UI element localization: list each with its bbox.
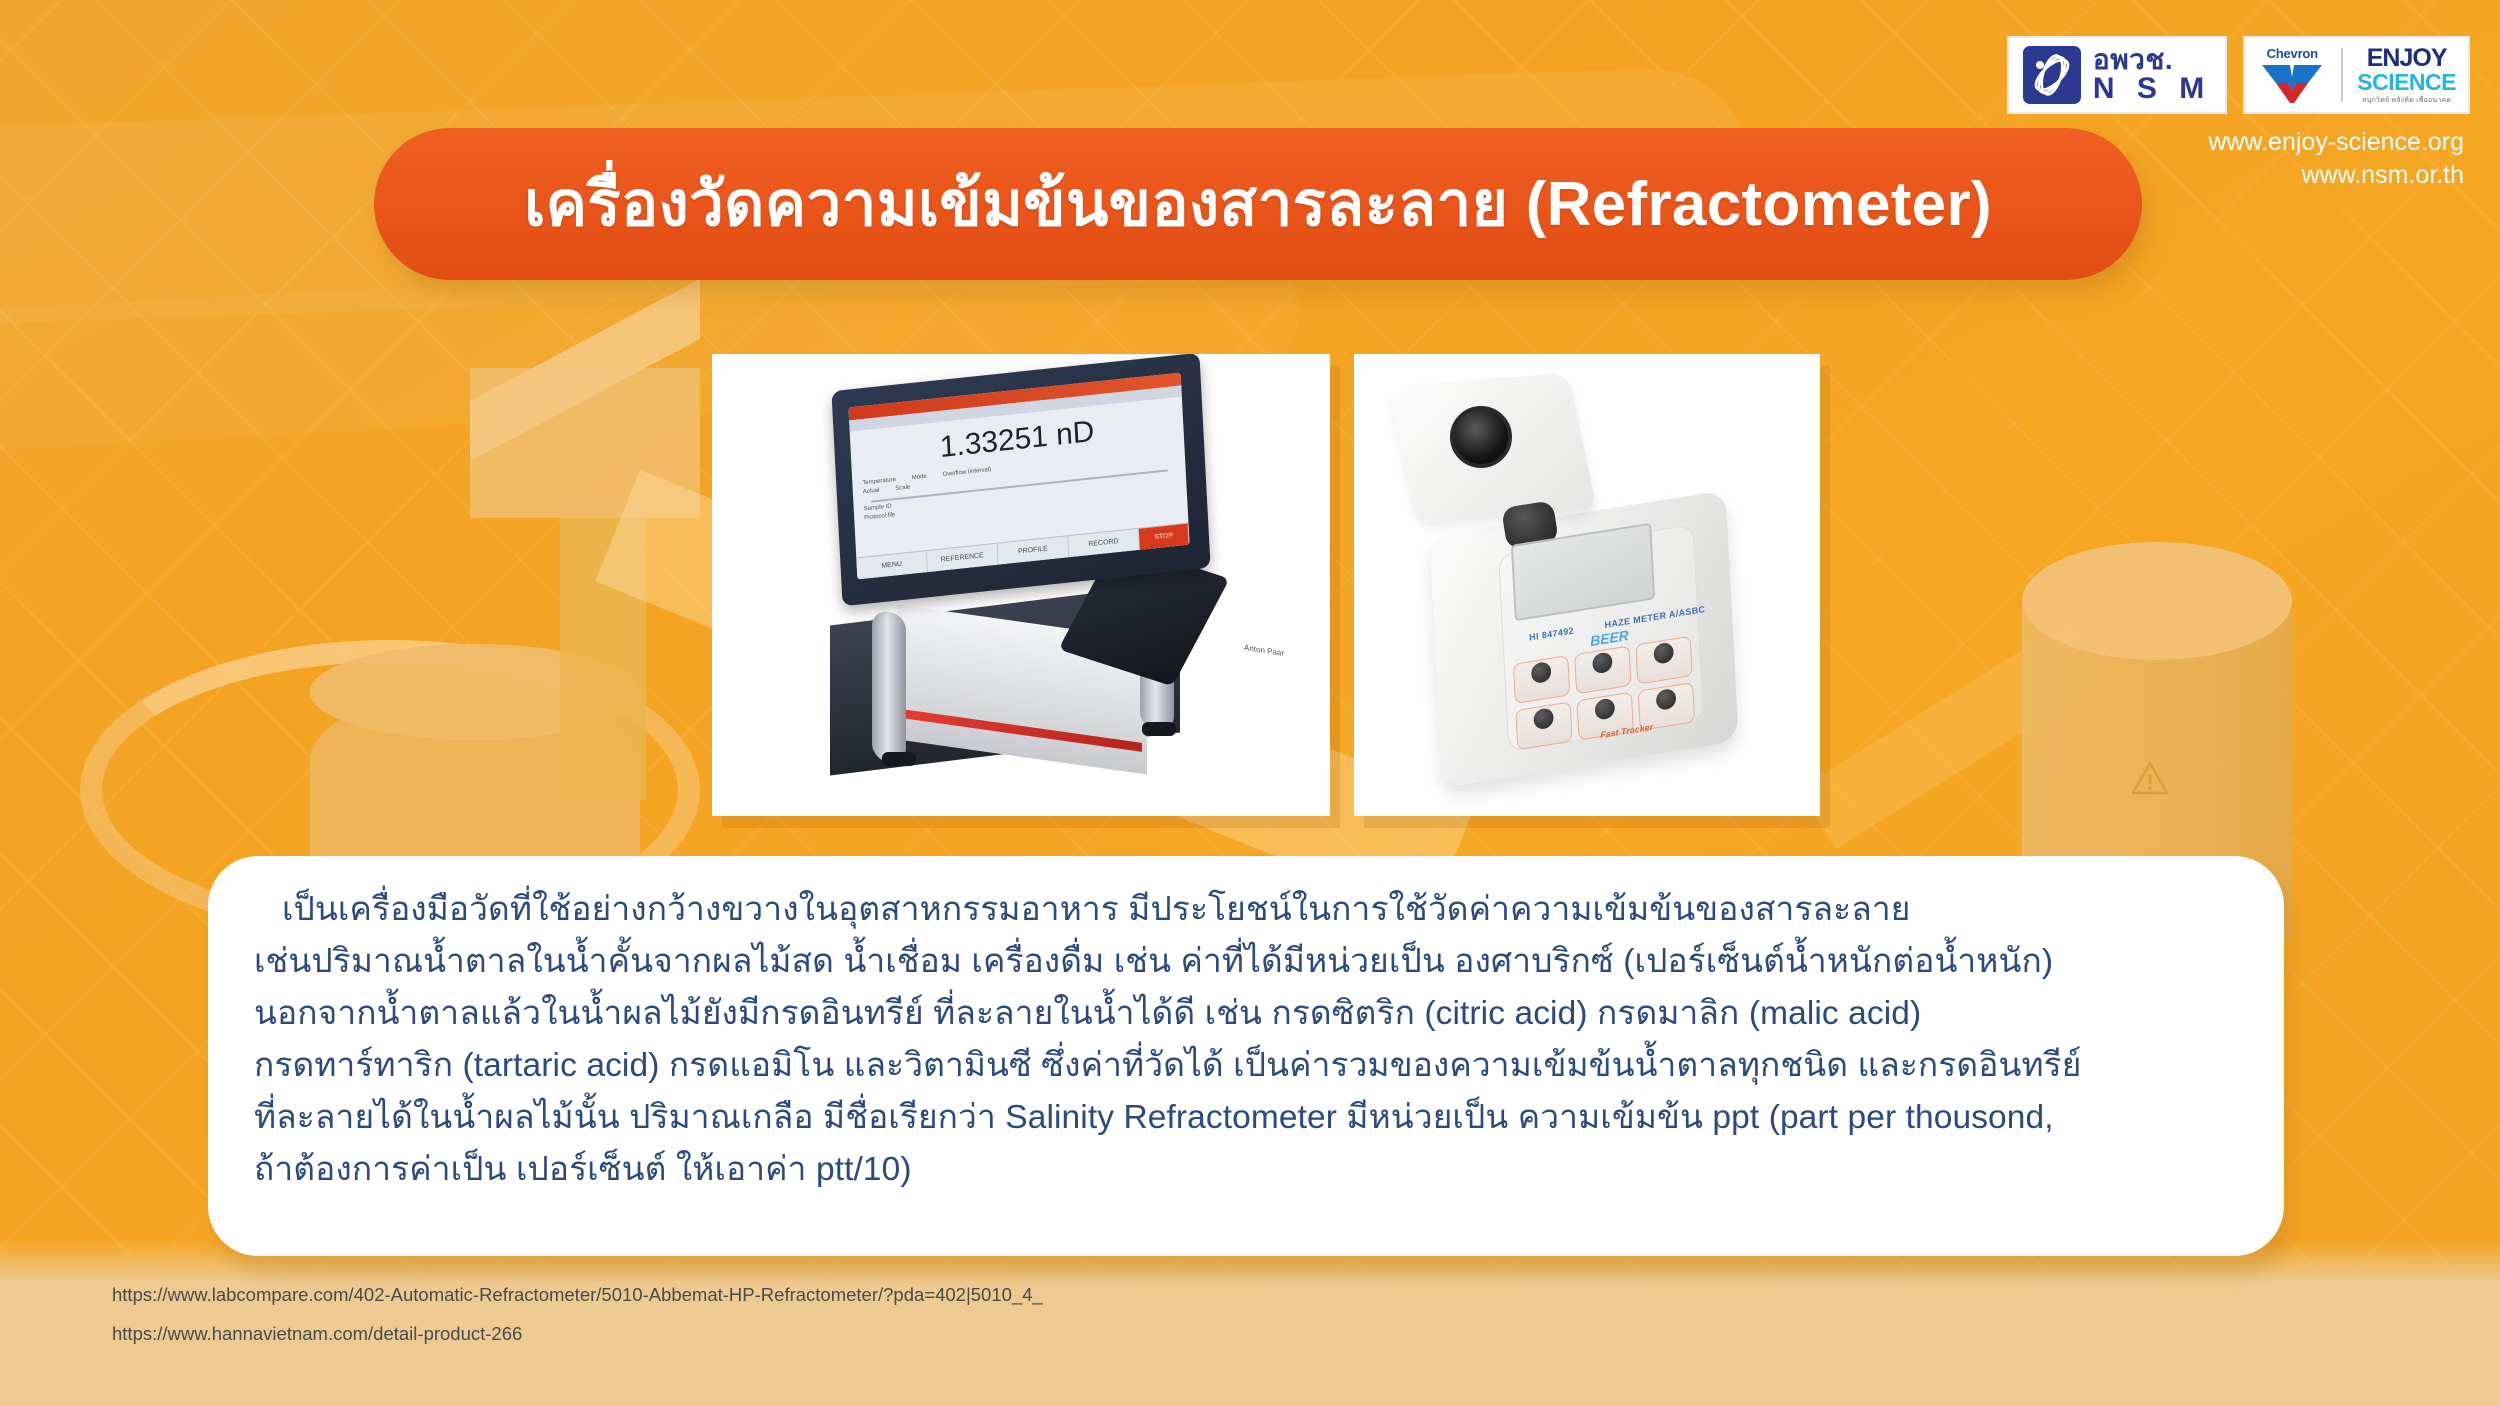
benchtop-foot-left — [882, 752, 916, 766]
warning-triangle-icon — [2130, 760, 2170, 794]
screen-row-label: Mode — [912, 474, 927, 482]
iso-pipe-right — [1799, 620, 2107, 849]
nsm-thai-label: อพวช. — [2093, 46, 2211, 74]
slide-root: อพวช. N S M Chevron ENJOY SCIENCE สนุกวิ… — [0, 0, 2500, 1406]
screen-row-label: Temperature — [862, 477, 896, 487]
key-dot-icon — [1592, 651, 1613, 674]
handheld-key[interactable] — [1635, 636, 1692, 685]
screen-row-label: Protocol file — [864, 512, 896, 521]
body-line: เช่นปริมาณน้ำตาลในน้ำคั้นจากผลไม้สด น้ำเ… — [254, 936, 2238, 988]
iso-machine-block — [470, 368, 700, 518]
benchtop-post-left — [872, 610, 906, 765]
key-dot-icon — [1594, 697, 1615, 720]
screen-row-sublabel: Scale — [895, 484, 910, 492]
reference-list: https://www.labcompare.com/402-Automatic… — [112, 1276, 1043, 1354]
image-benchtop-refractometer: Anton Paar 1.33251 nD Temperature Mode O… — [712, 354, 1330, 816]
key-dot-icon — [1653, 642, 1674, 665]
enjoy-science-logo: ENJOY SCIENCE สนุกวิทย์ พลังคิด เพื่ออนา… — [2357, 46, 2456, 104]
benchtop-brand-label: Anton Paar — [1244, 643, 1284, 658]
body-line: ถ้าต้องการค่าเป็น เปอร์เซ็นต์ ให้เอาค่า … — [254, 1144, 2238, 1196]
handheld-key[interactable] — [1574, 645, 1631, 694]
header-urls: www.enjoy-science.org www.nsm.or.th — [2208, 126, 2464, 193]
screen-row-sublabel: Actual — [863, 488, 880, 496]
iso-column — [560, 500, 646, 800]
body-line: นอกจากน้ำตาลแล้วในน้ำผลไม้ยังมีกรดอินทรี… — [254, 988, 2238, 1040]
benchtop-display-screen: 1.33251 nD Temperature Mode Overflow (in… — [848, 373, 1189, 580]
body-text: เป็นเครื่องมือวัดที่ใช้อย่างกว้างขวางในอ… — [254, 884, 2238, 1196]
science-label: SCIENCE — [2357, 71, 2456, 94]
screen-row-label: Sample ID — [864, 503, 892, 512]
url-enjoy-science[interactable]: www.enjoy-science.org — [2208, 126, 2464, 159]
enjoy-label: ENJOY — [2367, 46, 2447, 71]
body-line: กรดทาร์ทาริก (tartaric acid) กรดแอมิโน แ… — [254, 1040, 2238, 1092]
title-banner: เครื่องวัดความเข้มข้นของสารละลาย (Refrac… — [374, 128, 2142, 280]
nsm-atom-icon — [2023, 46, 2081, 104]
nsm-logo: อพวช. N S M — [2007, 36, 2227, 114]
nsm-english-label: N S M — [2093, 74, 2211, 104]
body-line: เป็นเครื่องมือวัดที่ใช้อย่างกว้างขวางในอ… — [254, 884, 2238, 936]
page-title: เครื่องวัดความเข้มข้นของสารละลาย (Refrac… — [524, 155, 1992, 253]
key-dot-icon — [1531, 661, 1552, 684]
enjoy-science-tagline: สนุกวิทย์ พลังคิด เพื่ออนาคต — [2362, 97, 2451, 104]
reference-link-1[interactable]: https://www.labcompare.com/402-Automatic… — [112, 1276, 1043, 1315]
image-handheld-refractometer: HI 847492 HAZE METER A/ASBC BEER Fast Tr… — [1354, 354, 1820, 816]
handheld-eyepiece-icon — [1450, 406, 1512, 468]
nsm-logo-text: อพวช. N S M — [2093, 46, 2211, 104]
iso-machine-block-top — [470, 279, 700, 461]
reference-link-2[interactable]: https://www.hannavietnam.com/detail-prod… — [112, 1315, 1043, 1354]
body-line: ที่ละลายได้ในน้ำผลไม้นั้น ปริมาณเกลือ มี… — [254, 1092, 2238, 1144]
body-card: เป็นเครื่องมือวัดที่ใช้อย่างกว้างขวางในอ… — [208, 856, 2284, 1256]
chevron-wordmark: Chevron — [2267, 46, 2318, 61]
key-dot-icon — [1656, 688, 1677, 711]
chevron-hallmark-icon — [2260, 61, 2324, 105]
key-dot-icon — [1533, 707, 1554, 730]
url-nsm[interactable]: www.nsm.or.th — [2208, 159, 2464, 192]
logo-divider — [2341, 48, 2343, 102]
chevron-enjoy-science-logo: Chevron ENJOY SCIENCE สนุกวิทย์ พลังคิด … — [2243, 36, 2470, 114]
chevron-logo-icon: Chevron — [2257, 46, 2327, 105]
logo-row: อพวช. N S M Chevron ENJOY SCIENCE สนุกวิ… — [2007, 36, 2470, 114]
benchtop-foot-right — [1142, 722, 1176, 736]
handheld-key[interactable] — [1513, 655, 1570, 704]
